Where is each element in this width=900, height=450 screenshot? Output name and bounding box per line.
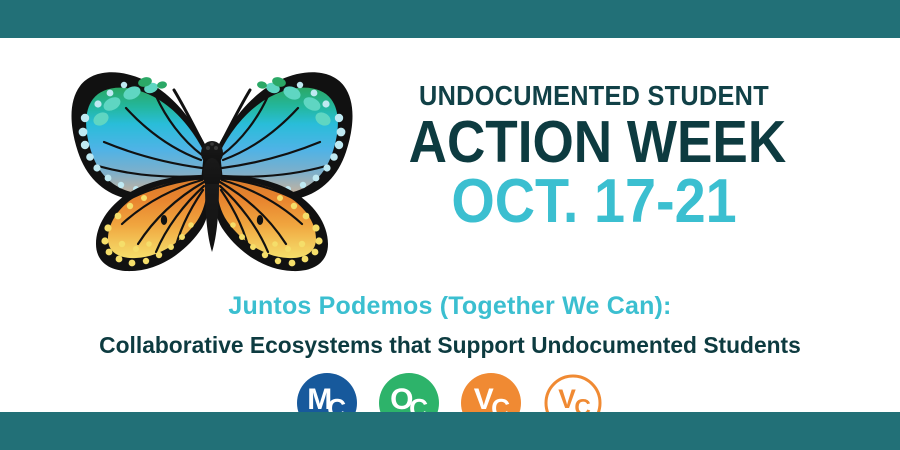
bottom-teal-bar xyxy=(0,412,900,450)
headline-eyebrow: UNDOCUMENTED STUDENT xyxy=(404,82,783,110)
tagline-block: Juntos Podemos (Together We Can): Collab… xyxy=(0,292,900,359)
poster-canvas: UNDOCUMENTED STUDENT ACTION WEEK OCT. 17… xyxy=(0,0,900,450)
tagline-spanish: Juntos Podemos (Together We Can): xyxy=(0,292,900,321)
headline-title: ACTION WEEK xyxy=(409,114,780,171)
butterfly-illustration xyxy=(52,52,372,277)
headline-dates: OCT. 17-21 xyxy=(409,172,780,232)
top-teal-bar xyxy=(0,0,900,38)
logo-primary-letter: V xyxy=(558,384,576,414)
tagline-english: Collaborative Ecosystems that Support Un… xyxy=(14,332,887,359)
headline-block: UNDOCUMENTED STUDENT ACTION WEEK OCT. 17… xyxy=(388,82,800,232)
